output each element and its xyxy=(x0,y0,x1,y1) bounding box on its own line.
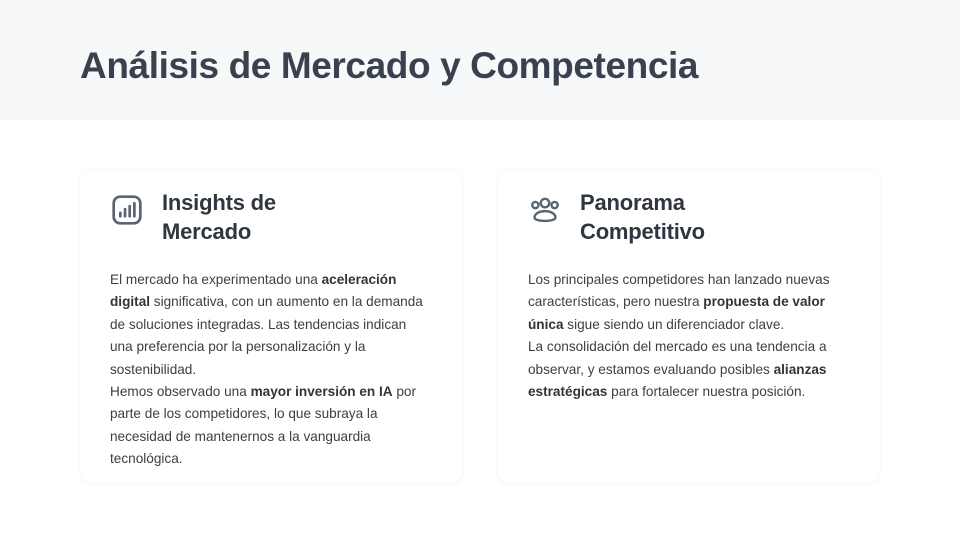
header-band: Análisis de Mercado y Competencia xyxy=(0,0,960,120)
card-title: Panorama Competitivo xyxy=(580,188,770,246)
bar-chart-icon xyxy=(110,193,144,227)
card-header: Insights de Mercado xyxy=(110,188,440,260)
cards-container: Insights de Mercado El mercado ha experi… xyxy=(0,170,960,485)
card-body: El mercado ha experimentado una acelerac… xyxy=(110,269,440,471)
page-title: Análisis de Mercado y Competencia xyxy=(80,42,698,90)
card-paragraph: Hemos observado una mayor inversión en I… xyxy=(110,381,432,471)
users-group-icon xyxy=(528,193,562,227)
card-paragraph: Los principales competidores han lanzado… xyxy=(528,269,843,336)
card-competitive-landscape[interactable]: Panorama Competitivo Los principales com… xyxy=(498,170,880,483)
slide-root: Análisis de Mercado y Competencia Insigh… xyxy=(0,0,960,540)
card-paragraph: La consolidación del mercado es una tend… xyxy=(528,336,843,403)
card-market-insights[interactable]: Insights de Mercado El mercado ha experi… xyxy=(80,170,462,483)
card-body: Los principales competidores han lanzado… xyxy=(528,269,858,403)
card-title: Insights de Mercado xyxy=(162,188,352,246)
card-header: Panorama Competitivo xyxy=(528,188,858,260)
card-paragraph: El mercado ha experimentado una acelerac… xyxy=(110,269,432,381)
